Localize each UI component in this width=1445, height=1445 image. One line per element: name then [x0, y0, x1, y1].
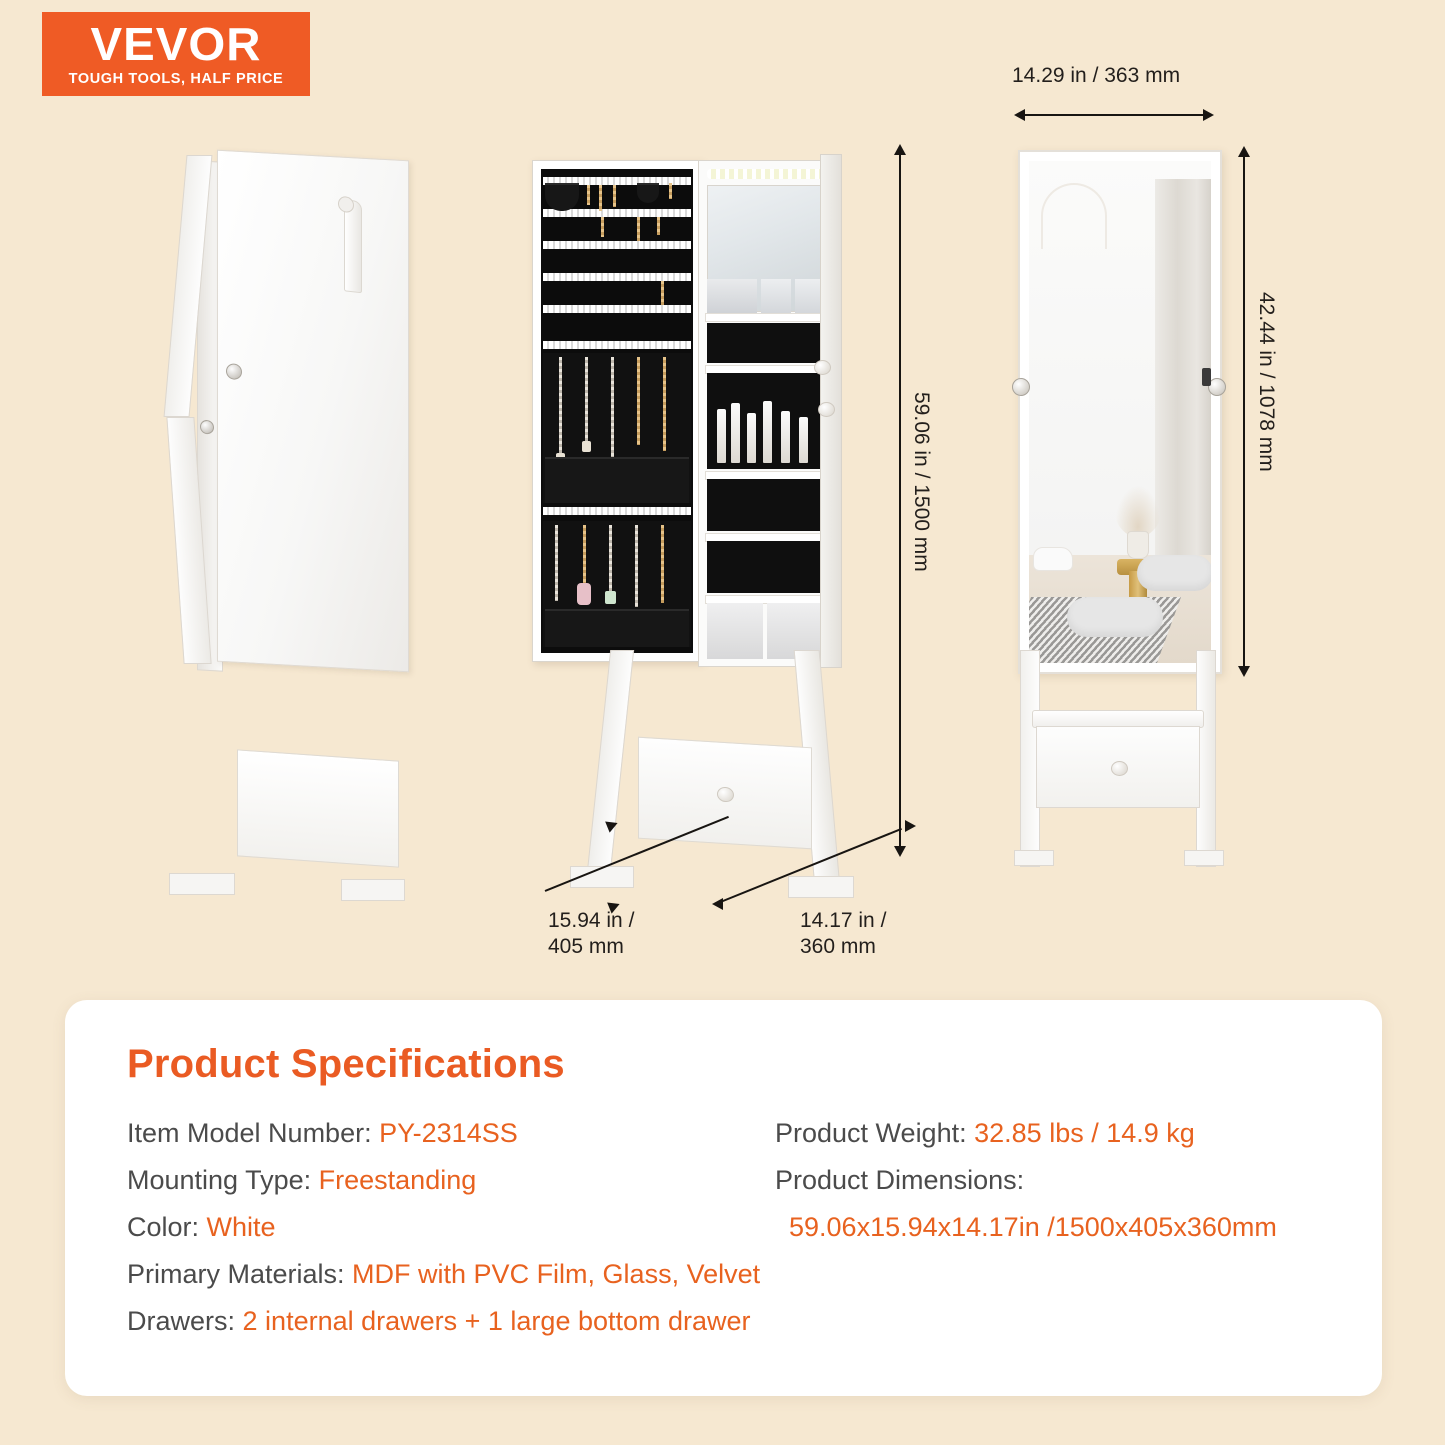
jewelry-item	[545, 183, 579, 211]
storage-pouch	[545, 609, 689, 647]
accessory-shelf	[707, 479, 823, 531]
accessory-shelf	[707, 541, 823, 593]
product-specifications-card: Product Specifications Item Model Number…	[65, 1000, 1382, 1396]
lock-knob	[814, 360, 831, 375]
spec-value: PY-2314SS	[379, 1118, 518, 1148]
earring-rack	[543, 241, 691, 249]
door-velvet-lining	[541, 169, 693, 653]
cosmetic-bottle	[799, 417, 808, 463]
cosmetic-bottle	[781, 411, 790, 463]
jewelry-item	[637, 183, 659, 203]
spec-value: 2 internal drawers + 1 large bottom draw…	[243, 1306, 751, 1336]
necklace-hook-rail	[543, 341, 691, 349]
spec-row: Product Weight: 32.85 lbs / 14.9 kg	[775, 1110, 1395, 1157]
spec-row: Product Dimensions:	[775, 1157, 1395, 1204]
jewelry-item	[661, 281, 664, 305]
brand-name: VEVOR	[90, 21, 261, 67]
hinge-knob	[818, 402, 835, 417]
reflected-chair	[1067, 597, 1163, 637]
spec-label: Item Model Number:	[127, 1118, 372, 1148]
product-spec-sheet: VEVOR TOUGH TOOLS, HALF PRICE	[0, 0, 1445, 1445]
hinge-knob	[226, 363, 242, 380]
necklace	[559, 357, 562, 453]
spec-full-rows: Primary Materials: MDF with PVC Film, Gl…	[127, 1251, 760, 1345]
earring-rack	[543, 305, 691, 313]
storage-pouch	[545, 457, 689, 503]
jewelry-item	[587, 185, 590, 205]
bottom-drawer	[1036, 726, 1200, 808]
left-leg	[586, 650, 634, 882]
product-open-view	[520, 150, 860, 890]
spec-value: Freestanding	[319, 1165, 477, 1195]
jewelry-item	[637, 217, 640, 241]
left-foot	[1014, 850, 1054, 866]
spec-row: Drawers: 2 internal drawers + 1 large bo…	[127, 1298, 760, 1345]
cosmetic-bottle	[747, 413, 756, 463]
spec-card-title: Product Specifications	[127, 1042, 565, 1087]
jewelry-item	[657, 217, 660, 235]
vevor-logo: VEVOR TOUGH TOOLS, HALF PRICE	[42, 12, 310, 96]
spec-label: Mounting Type:	[127, 1165, 311, 1195]
spec-row: Item Model Number: PY-2314SS	[127, 1110, 767, 1157]
right-foot	[788, 876, 854, 898]
internal-drawer	[707, 603, 763, 659]
reflected-pampas-grass	[1115, 485, 1161, 537]
reflected-fixture	[1033, 547, 1073, 571]
necklace	[635, 525, 638, 607]
brand-tagline: TOUGH TOOLS, HALF PRICE	[69, 71, 284, 87]
dim-width-top-label: 14.29 in / 363 mm	[1012, 63, 1180, 89]
spec-value: 32.85 lbs / 14.9 kg	[974, 1118, 1195, 1148]
necklace-panel	[543, 353, 691, 503]
reflected-vase	[1127, 531, 1149, 559]
dim-depth-left-label: 15.94 in / 405 mm	[548, 908, 634, 960]
pendant	[577, 583, 591, 605]
necklace	[661, 525, 664, 603]
product-front-view	[1018, 150, 1233, 870]
pendant	[605, 591, 616, 604]
wall-mount-handle	[344, 199, 362, 293]
right-foot	[341, 879, 405, 901]
spec-row: Primary Materials: MDF with PVC Film, Gl…	[127, 1251, 760, 1298]
jewelry-item	[599, 185, 602, 211]
lock-knob	[200, 420, 214, 435]
necklace	[663, 357, 666, 451]
spec-dimensions-value: 59.06x15.94x14.17in /1500x405x360mm	[775, 1204, 1395, 1251]
cabinet-body-interior	[698, 160, 832, 667]
spec-label: Product Weight:	[775, 1118, 967, 1148]
shelf	[705, 313, 827, 322]
spec-right-column: Product Weight: 32.85 lbs / 14.9 kg Prod…	[775, 1110, 1395, 1251]
pendant	[582, 441, 591, 452]
drawer-knob	[1111, 761, 1128, 776]
door-lock	[1202, 368, 1211, 386]
cabinet-back-panel	[217, 150, 409, 673]
full-length-mirror	[1029, 161, 1211, 663]
jewelry-item	[613, 185, 616, 207]
earring-rack	[543, 273, 691, 281]
brush-holder	[795, 279, 823, 313]
spec-value: MDF with PVC Film, Glass, Velvet	[352, 1259, 760, 1289]
necklace	[637, 357, 640, 445]
brush-holder	[761, 279, 791, 313]
necklace-hook-rail	[543, 507, 691, 515]
mirror-door-frame	[1018, 150, 1222, 674]
spec-value: White	[207, 1212, 276, 1242]
spec-row: Color: White	[127, 1204, 767, 1251]
spec-label: Product Dimensions:	[775, 1165, 1024, 1195]
drawer-knob	[717, 787, 734, 803]
reflected-chair	[1137, 555, 1211, 591]
necklace	[555, 525, 558, 601]
necklace	[583, 525, 586, 583]
spec-label: Primary Materials:	[127, 1259, 345, 1289]
cosmetic-bottle	[731, 403, 740, 463]
cosmetic-bottle	[717, 409, 726, 463]
led-light-strip	[707, 169, 823, 179]
brush-holder	[707, 279, 757, 313]
dim-depth-right-label: 14.17 in / 360 mm	[800, 908, 886, 960]
dim-mirror-height-label: 42.44 in / 1078 mm	[1253, 292, 1279, 472]
spec-row: Mounting Type: Freestanding	[127, 1157, 767, 1204]
spec-left-column: Item Model Number: PY-2314SS Mounting Ty…	[127, 1110, 767, 1251]
necklace	[609, 525, 612, 591]
right-foot	[1184, 850, 1224, 866]
necklace-panel	[543, 521, 691, 647]
ring-tray	[707, 323, 823, 363]
cabinet-door-organizer	[532, 160, 702, 662]
bottom-drawer	[638, 737, 812, 850]
cosmetics-compartment	[707, 373, 823, 469]
dim-height-total-label: 59.06 in / 1500 mm	[908, 392, 934, 572]
jewelry-item	[601, 217, 604, 237]
necklace	[611, 357, 614, 457]
bottom-drawer	[237, 749, 399, 867]
reflected-arch	[1041, 183, 1107, 249]
left-foot	[169, 873, 235, 895]
spec-label: Drawers:	[127, 1306, 235, 1336]
cosmetic-bottle	[763, 401, 772, 463]
necklace	[585, 357, 588, 441]
product-back-view	[175, 155, 425, 885]
spec-label: Color:	[127, 1212, 199, 1242]
left-pivot-knob	[1012, 378, 1030, 396]
jewelry-item	[669, 183, 672, 199]
